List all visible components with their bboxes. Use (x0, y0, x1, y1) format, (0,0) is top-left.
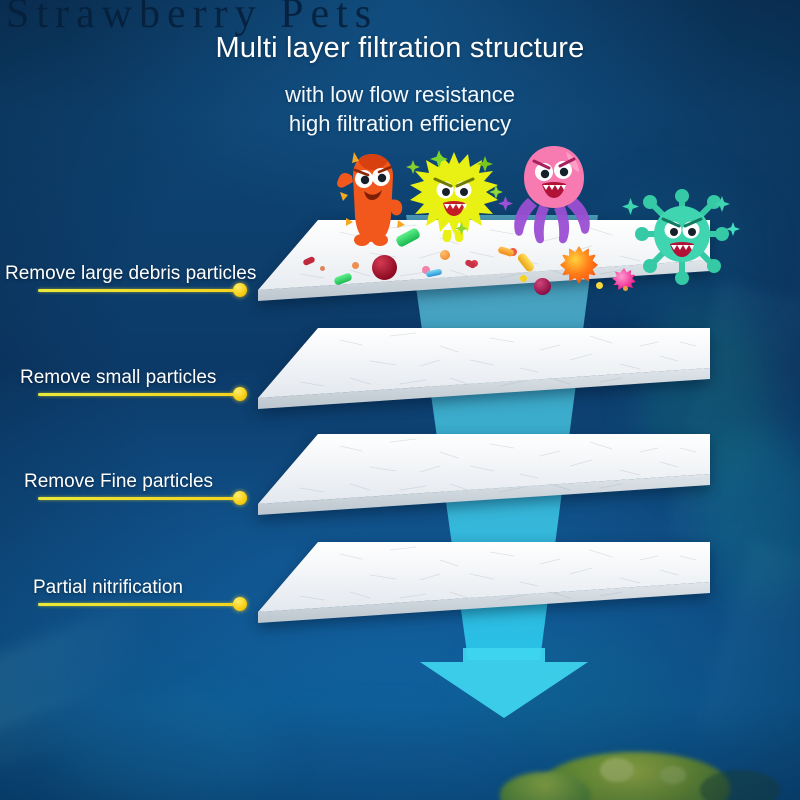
debris-dot-small-1 (320, 266, 325, 271)
callout-dot (233, 597, 247, 611)
callout-dot (233, 387, 247, 401)
layer-4-nitrifying (240, 530, 720, 630)
layer-3-fine (240, 422, 720, 522)
sparkle-teal-2 (714, 196, 730, 212)
layer-2-small (240, 316, 720, 416)
callout-label: Remove Fine particles (24, 471, 213, 493)
callout-dot (233, 283, 247, 297)
sparkle-green-5 (406, 160, 420, 174)
callout-label: Partial nitrification (33, 577, 183, 599)
sparkle-green-1 (430, 150, 448, 168)
sparkle-green-2 (477, 156, 493, 172)
callout-remove-small-particles[interactable]: Remove small particles (5, 362, 275, 402)
debris-sphere-darkred-2 (534, 278, 551, 295)
subtitle-line-1: with low flow resistance (0, 82, 800, 108)
callout-remove-fine-particles[interactable]: Remove Fine particles (5, 466, 275, 506)
subtitle-line-2: high filtration efficiency (0, 111, 800, 137)
orange-worm-germ (328, 146, 414, 256)
debris-sphere-darkred-1 (372, 255, 397, 280)
debris-dot-orange-1 (440, 250, 450, 260)
sparkle-teal-1 (622, 198, 639, 215)
callout-line (38, 497, 238, 500)
debris-dot-yellow-1 (520, 275, 527, 282)
debris-dot-small-2 (623, 286, 628, 291)
callout-label: Remove small particles (20, 367, 216, 389)
callout-label: Remove large debris particles (5, 263, 256, 285)
sparkle-green-4 (455, 222, 468, 235)
callout-dot (233, 491, 247, 505)
callout-remove-large-debris[interactable]: Remove large debris particles (5, 258, 275, 298)
callout-line (38, 603, 238, 606)
page-title: Multi layer filtration structure (0, 32, 800, 65)
callout-line (38, 393, 238, 396)
sparkle-teal-3 (726, 222, 740, 236)
callout-line (38, 289, 238, 292)
pink-octopus-germ (506, 140, 602, 250)
debris-dot-pink-2 (352, 262, 359, 269)
debris-dot-yellow-2 (596, 282, 603, 289)
callout-partial-nitrification[interactable]: Partial nitrification (5, 572, 275, 612)
aquarium-filter-cross-section: Strawberry Pets Multi layer filtration s… (0, 0, 800, 800)
sparkle-purple-1 (498, 196, 513, 211)
